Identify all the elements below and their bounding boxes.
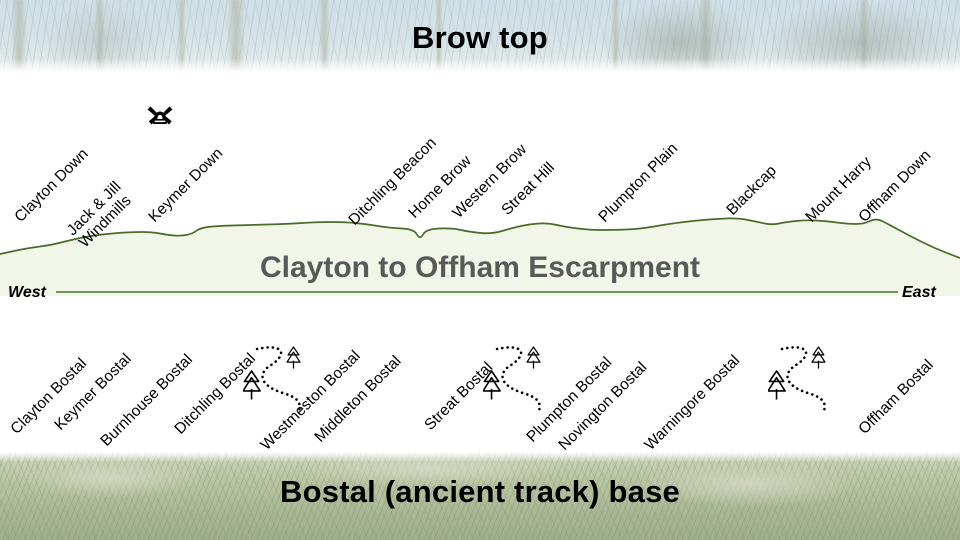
windmill-icon xyxy=(143,100,177,134)
bottom-photo-band: Bostal (ancient track) base xyxy=(0,452,960,540)
page-title: Clayton to Offham Escarpment xyxy=(0,251,960,285)
bottom-band-title: Bostal (ancient track) base xyxy=(0,474,960,510)
woodland-track-icon xyxy=(768,341,846,413)
top-band-title: Brow top xyxy=(0,20,960,56)
compass-label-west: West xyxy=(8,284,46,302)
woodland-track-icon xyxy=(483,341,561,413)
top-photo-band: Brow top xyxy=(0,0,960,72)
woodland-track-icon xyxy=(243,341,321,413)
escarpment-profile-diagram: Brow top Clayton to Offham Escarpment We… xyxy=(0,0,960,540)
compass-label-east: East xyxy=(902,284,936,302)
